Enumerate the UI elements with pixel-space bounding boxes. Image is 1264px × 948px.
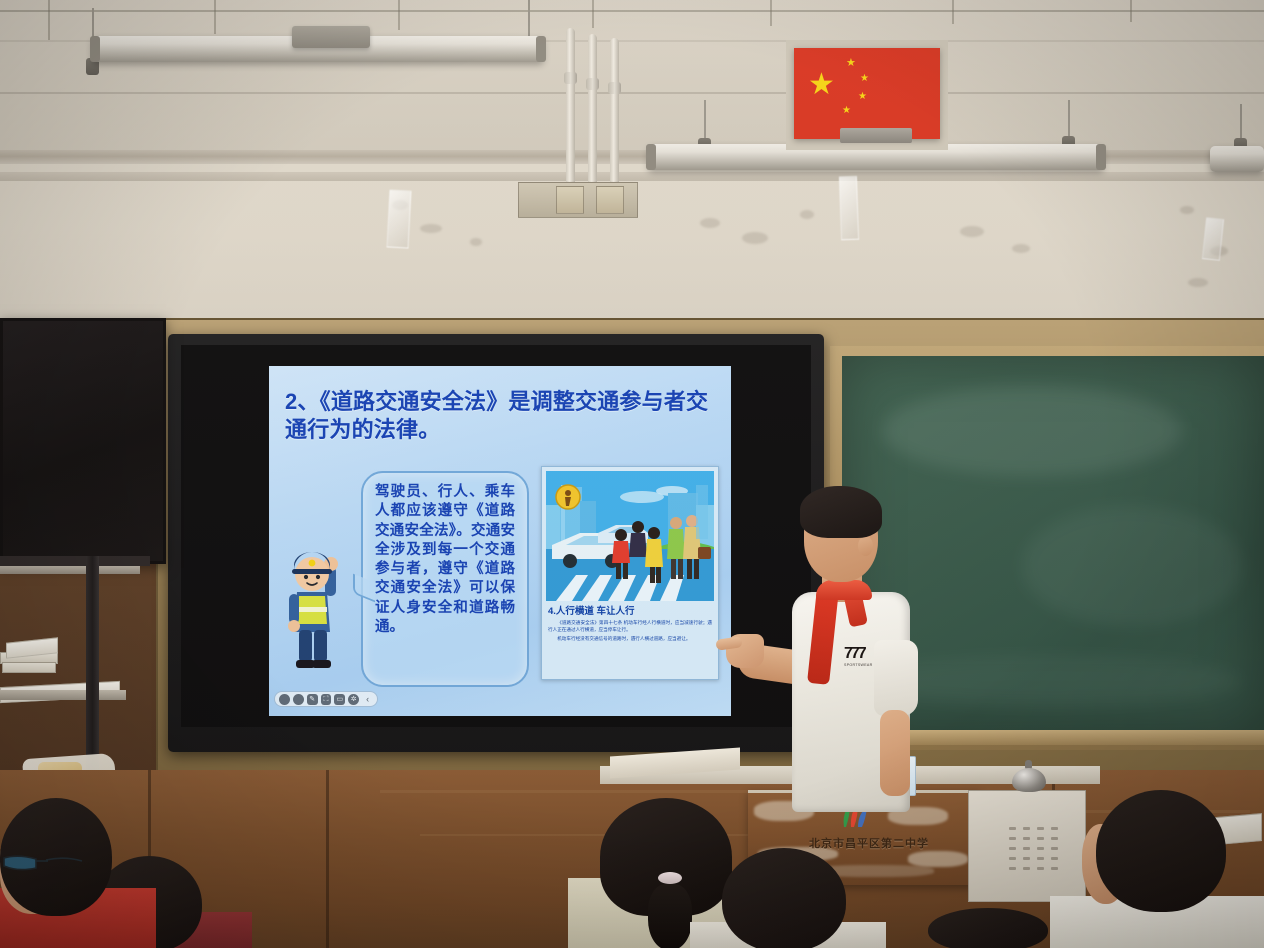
- student-bottom-center-head: [928, 908, 1048, 948]
- equipment-cabinet: [968, 790, 1086, 902]
- podium-school-name: 北京市昌平区第二中学: [794, 835, 944, 851]
- crosswalk-illustration: [546, 471, 714, 601]
- illustration-caption: 4.人行横道 车让人行: [548, 606, 712, 617]
- chevron-left-icon[interactable]: ‹: [362, 694, 373, 705]
- select-icon[interactable]: ⛶: [321, 694, 332, 705]
- video-icon[interactable]: ▭: [334, 694, 345, 705]
- slide-title: 2、《道路交通安全法》是调整交通参与者交通行为的法律。: [285, 388, 717, 444]
- presentation-slide[interactable]: 2、《道路交通安全法》是调整交通参与者交通行为的法律。 驾驶员、行人、乘车人都应…: [269, 366, 731, 716]
- slide-speech-bubble: 驾驶员、行人、乘车人都应该遵守《道路交通安全法》。交通安全涉及到每一个交通参与者…: [361, 471, 529, 687]
- service-bell[interactable]: [1012, 768, 1046, 792]
- slide-illustration-card: 4.人行横道 车让人行 《道路交通安全法》第四十七条 机动车行经人行横道时，应当…: [541, 466, 719, 680]
- student-center-head: [722, 848, 846, 948]
- circle-icon[interactable]: [279, 694, 290, 705]
- ceiling-light-far-right: [1210, 146, 1264, 172]
- fine-print-line-1: 《道路交通安全法》第四十七条 机动车行经人行横道时，应当减速行驶；遇行人正在通过…: [548, 619, 712, 633]
- shelf-surface-lower: [0, 690, 126, 700]
- fine-print-line-2: 机动车行经没有交通信号的道路时，遇行人横过道路，应当避让。: [548, 635, 712, 642]
- wall-speaker-device: [840, 128, 912, 143]
- slide-floating-toolbar[interactable]: ✎ ⛶ ▭ ✲ ‹: [274, 691, 378, 707]
- record-icon[interactable]: [293, 694, 304, 705]
- hair-tie: [658, 872, 682, 884]
- presenter-sleeve: [874, 640, 918, 716]
- eyeglasses: [2, 852, 86, 874]
- shirt-logo: 777: [844, 646, 878, 664]
- gear-icon[interactable]: ✲: [348, 694, 359, 705]
- shirt-logo-subtext: SPORTSWEAR: [844, 663, 888, 667]
- monitor-base: [0, 556, 150, 566]
- wall-monitor[interactable]: [0, 318, 166, 564]
- presenter-forearm: [880, 710, 910, 796]
- presenting-student: 777 SPORTSWEAR: [726, 470, 926, 830]
- wall-trim-rail-lower: [0, 172, 1264, 181]
- classroom-photo: ★ ★ ★ ★ ★ seewo 2、《道路交通安全法》是调整交通参与者交通行为的…: [0, 0, 1264, 948]
- chinese-flag: ★ ★ ★ ★ ★: [794, 48, 940, 139]
- slide-bubble-text: 驾驶员、行人、乘车人都应该遵守《道路交通安全法》。交通安全涉及到每一个交通参与者…: [375, 483, 515, 637]
- pen-icon[interactable]: ✎: [307, 694, 318, 705]
- presenter-hair: [800, 486, 882, 538]
- shelf-surface-upper: [0, 566, 140, 574]
- ponytail: [648, 884, 692, 948]
- whiteboard-screen[interactable]: 2、《道路交通安全法》是调整交通参与者交通行为的法律。 驾驶员、行人、乘车人都应…: [181, 345, 811, 727]
- student-right-head: [1096, 790, 1226, 912]
- presenter-ear: [858, 536, 873, 556]
- traffic-police-cartoon-icon: [285, 544, 347, 672]
- illustration-fine-print: 《道路交通安全法》第四十七条 机动车行经人行横道时，应当减速行驶；遇行人正在通过…: [548, 619, 712, 644]
- red-neckerchief-knot: [816, 580, 872, 600]
